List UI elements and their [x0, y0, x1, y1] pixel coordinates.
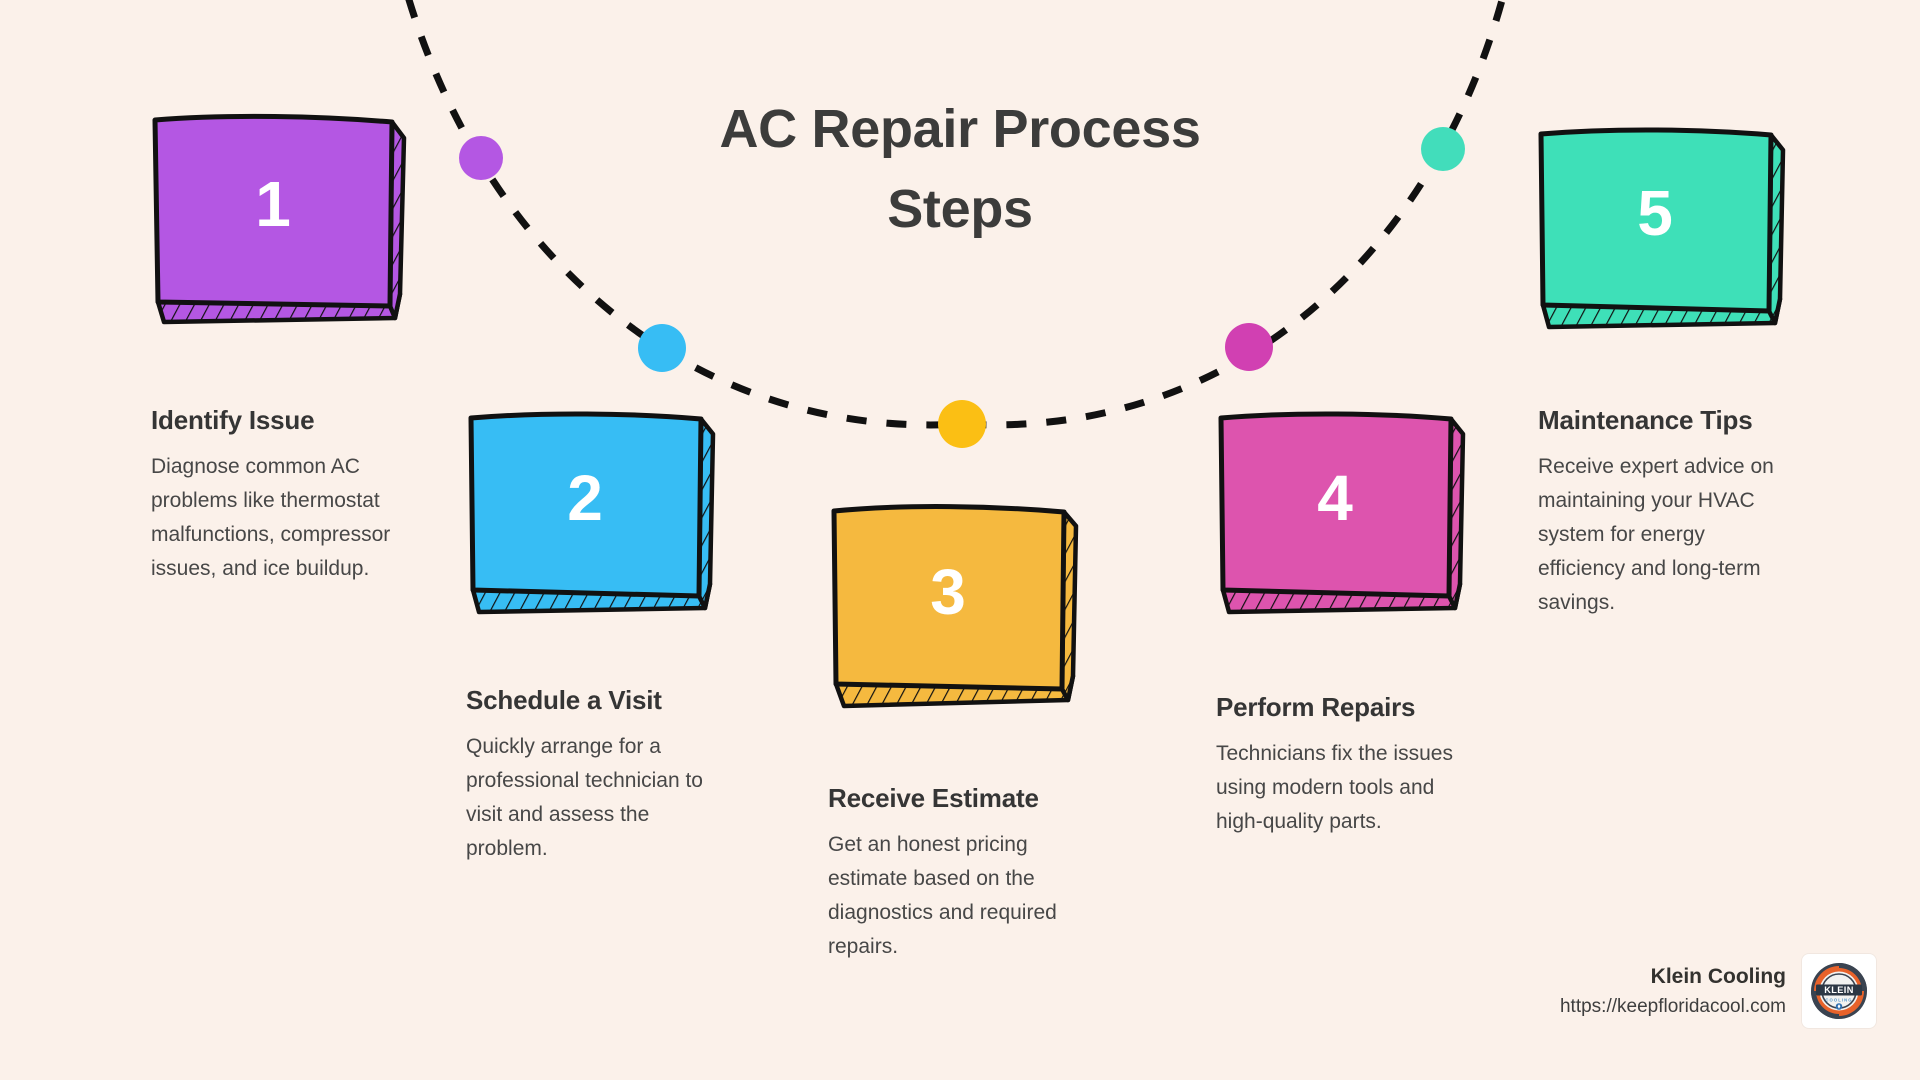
curve-node-5 — [1421, 127, 1465, 171]
title-line-2: Steps — [660, 170, 1260, 250]
step-block-4: Perform Repairs Technicians fix the issu… — [1216, 692, 1466, 839]
step-title-2: Schedule a Visit — [466, 685, 728, 716]
title-line-1: AC Repair Process — [660, 90, 1260, 170]
step-card-5[interactable]: 5 — [1535, 125, 1788, 340]
curve-node-2 — [638, 324, 686, 372]
step-desc-1: Diagnose common AC problems like thermos… — [151, 450, 399, 586]
step-block-5: Maintenance Tips Receive expert advice o… — [1538, 405, 1786, 620]
step-desc-5: Receive expert advice on maintaining you… — [1538, 450, 1786, 620]
step-desc-3: Get an honest pricing estimate based on … — [828, 828, 1096, 964]
step-block-3: Receive Estimate Get an honest pricing e… — [828, 783, 1096, 964]
curve-node-1 — [459, 136, 503, 180]
step-block-1: Identify Issue Diagnose common AC proble… — [151, 405, 399, 586]
step-card-2[interactable]: 2 — [465, 408, 718, 623]
brand-footer: Klein Cooling https://keepfloridacool.co… — [1560, 954, 1876, 1028]
step-desc-2: Quickly arrange for a professional techn… — [466, 730, 728, 866]
step-card-1[interactable]: 1 — [150, 110, 410, 330]
card-shape-2 — [465, 408, 718, 623]
step-title-5: Maintenance Tips — [1538, 405, 1786, 436]
svg-text:COOLING: COOLING — [1825, 998, 1852, 1003]
svg-text:KLEIN: KLEIN — [1824, 985, 1854, 995]
brand-url[interactable]: https://keepfloridacool.com — [1560, 993, 1786, 1022]
curve-node-4 — [1225, 323, 1273, 371]
step-title-1: Identify Issue — [151, 405, 399, 436]
card-shape-5 — [1535, 125, 1788, 340]
page-title: AC Repair Process Steps — [660, 90, 1260, 250]
card-shape-3 — [828, 500, 1081, 715]
step-card-3[interactable]: 3 — [828, 500, 1081, 715]
step-desc-4: Technicians fix the issues using modern … — [1216, 737, 1466, 839]
infographic-canvas: AC Repair Process Steps 1 Identify Issue… — [0, 0, 1920, 1080]
card-shape-4 — [1215, 408, 1468, 623]
step-title-3: Receive Estimate — [828, 783, 1096, 814]
step-title-4: Perform Repairs — [1216, 692, 1466, 723]
curve-node-3 — [938, 400, 986, 448]
card-shape-1 — [150, 110, 410, 330]
brand-text: Klein Cooling https://keepfloridacool.co… — [1560, 961, 1786, 1021]
step-card-4[interactable]: 4 — [1215, 408, 1468, 623]
step-block-2: Schedule a Visit Quickly arrange for a p… — [466, 685, 728, 866]
brand-logo-box: KLEIN COOLING — [1802, 954, 1876, 1028]
klein-cooling-logo-icon: KLEIN COOLING — [1808, 960, 1870, 1022]
brand-name: Klein Cooling — [1560, 961, 1786, 993]
